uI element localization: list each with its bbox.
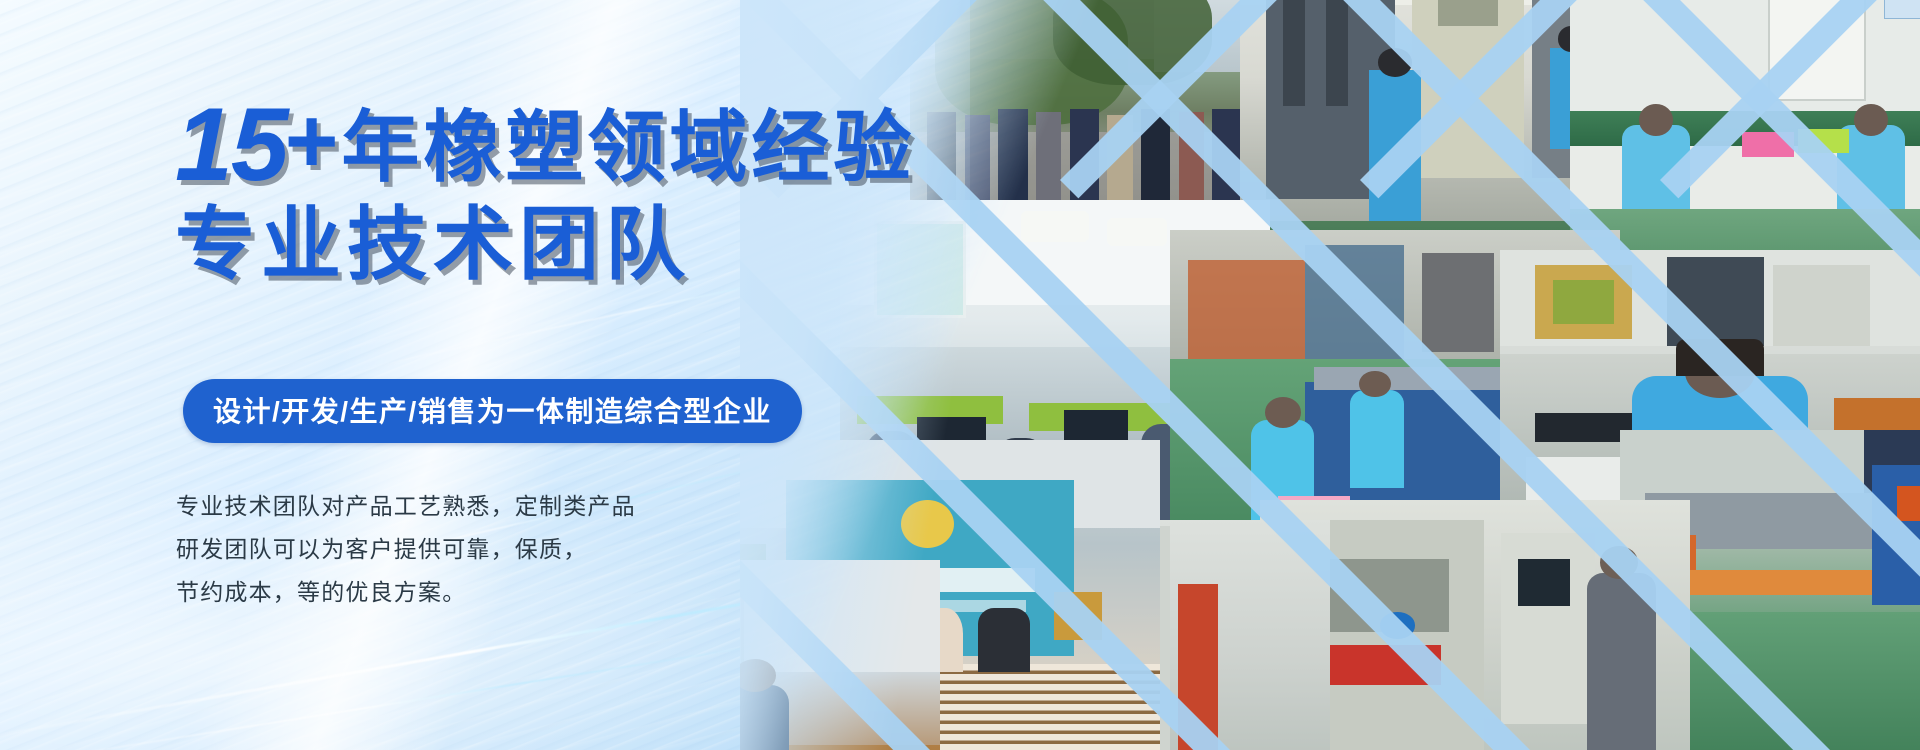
- headline-line-1: 15+年橡塑领域经验: [175, 92, 935, 198]
- description-paragraph: 专业技术团队对产品工艺熟悉，定制类产品 研发团队可以为客户提供可靠，保质， 节约…: [176, 485, 736, 614]
- headline-number: 15: [175, 87, 287, 203]
- description-line-3: 节约成本，等的优良方案。: [176, 571, 736, 614]
- description-line-1: 专业技术团队对产品工艺熟悉，定制类产品: [176, 485, 736, 528]
- banner-text-content: 15+年橡塑领域经验 专业技术团队 设计/开发/生产/销售为一体制造综合型企业 …: [0, 0, 900, 750]
- headline-line-2: 专业技术团队: [175, 204, 935, 286]
- headline-line-1-text: 年橡塑领域经验: [341, 103, 915, 191]
- headline-plus-sign: +: [285, 90, 340, 192]
- headline: 15+年橡塑领域经验 专业技术团队: [175, 92, 935, 286]
- tagline-pill: 设计/开发/生产/销售为一体制造综合型企业: [183, 379, 802, 443]
- hero-banner: 15+年橡塑领域经验 专业技术团队 设计/开发/生产/销售为一体制造综合型企业 …: [0, 0, 1920, 750]
- description-line-2: 研发团队可以为客户提供可靠，保质，: [176, 528, 736, 571]
